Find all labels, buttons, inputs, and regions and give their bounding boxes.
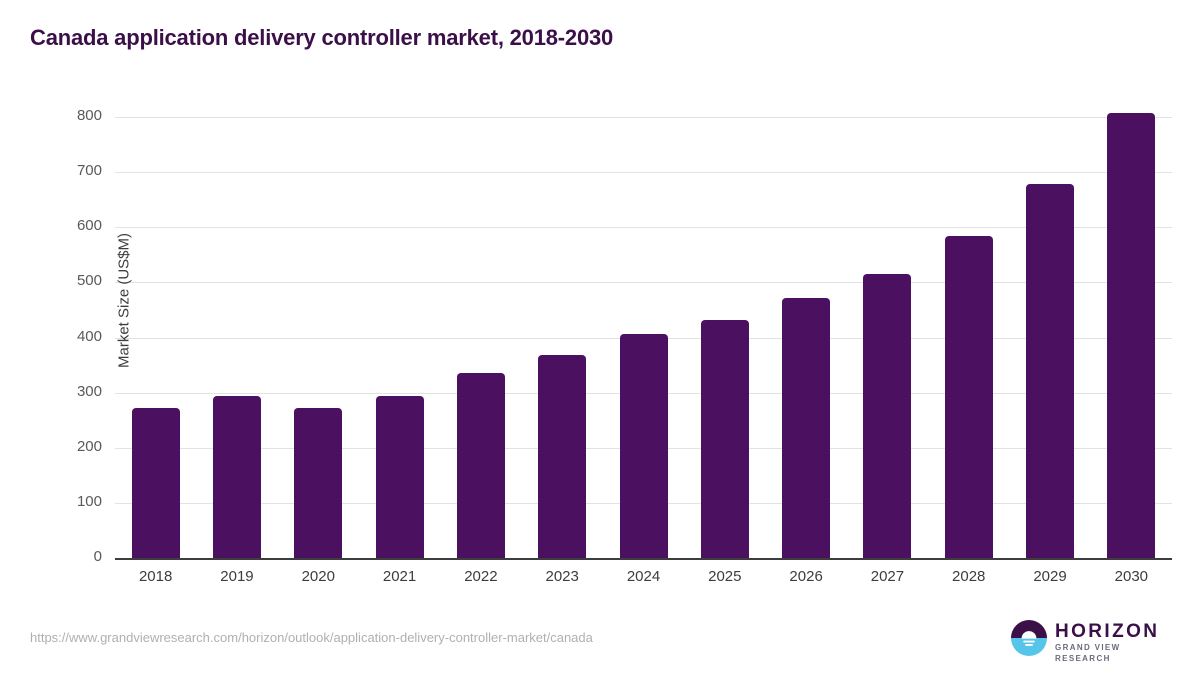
x-tick-label: 2019 xyxy=(197,568,277,585)
bar[interactable] xyxy=(213,396,261,558)
y-tick-label: 700 xyxy=(40,162,102,179)
bar[interactable] xyxy=(945,236,993,558)
x-tick-label: 2021 xyxy=(360,568,440,585)
source-url[interactable]: https://www.grandviewresearch.com/horizo… xyxy=(30,630,593,645)
bar[interactable] xyxy=(782,298,830,558)
bar[interactable] xyxy=(376,396,424,558)
y-tick-label: 400 xyxy=(40,328,102,345)
gridline xyxy=(115,282,1172,283)
bar[interactable] xyxy=(701,320,749,558)
x-tick-label: 2018 xyxy=(116,568,196,585)
x-tick-label: 2023 xyxy=(522,568,602,585)
horizon-logo[interactable]: HORIZON GRAND VIEW RESEARCH xyxy=(1011,618,1171,658)
y-tick-label: 800 xyxy=(40,107,102,124)
bar[interactable] xyxy=(1026,184,1074,558)
y-tick-label: 200 xyxy=(40,438,102,455)
x-tick-label: 2027 xyxy=(847,568,927,585)
y-axis-title: Market Size (US$M) xyxy=(116,171,133,431)
x-tick-label: 2022 xyxy=(441,568,521,585)
gridline xyxy=(115,172,1172,173)
y-tick-label: 0 xyxy=(40,548,102,565)
x-tick-label: 2029 xyxy=(1010,568,1090,585)
bar[interactable] xyxy=(294,408,342,558)
y-tick-label: 600 xyxy=(40,217,102,234)
x-axis-line xyxy=(115,558,1172,560)
logo-tagline: GRAND VIEW RESEARCH xyxy=(1055,642,1171,664)
x-tick-label: 2030 xyxy=(1091,568,1171,585)
x-tick-label: 2026 xyxy=(766,568,846,585)
y-tick-label: 500 xyxy=(40,272,102,289)
bar[interactable] xyxy=(538,355,586,558)
bar[interactable] xyxy=(457,373,505,558)
page-title: Canada application delivery controller m… xyxy=(30,25,613,51)
bar[interactable] xyxy=(1107,113,1155,558)
logo-wordmark: HORIZON xyxy=(1055,622,1171,642)
x-tick-label: 2020 xyxy=(278,568,358,585)
bar[interactable] xyxy=(132,408,180,558)
horizon-logo-icon xyxy=(1011,620,1047,656)
horizon-logo-text: HORIZON GRAND VIEW RESEARCH xyxy=(1055,622,1171,664)
y-tick-label: 300 xyxy=(40,383,102,400)
bar[interactable] xyxy=(620,334,668,558)
y-tick-label: 100 xyxy=(40,493,102,510)
chart-page: Canada application delivery controller m… xyxy=(0,0,1200,675)
gridline xyxy=(115,227,1172,228)
x-tick-label: 2028 xyxy=(929,568,1009,585)
bar[interactable] xyxy=(863,274,911,558)
x-tick-label: 2024 xyxy=(604,568,684,585)
plot-area xyxy=(115,117,1172,558)
x-tick-label: 2025 xyxy=(685,568,765,585)
gridline xyxy=(115,117,1172,118)
